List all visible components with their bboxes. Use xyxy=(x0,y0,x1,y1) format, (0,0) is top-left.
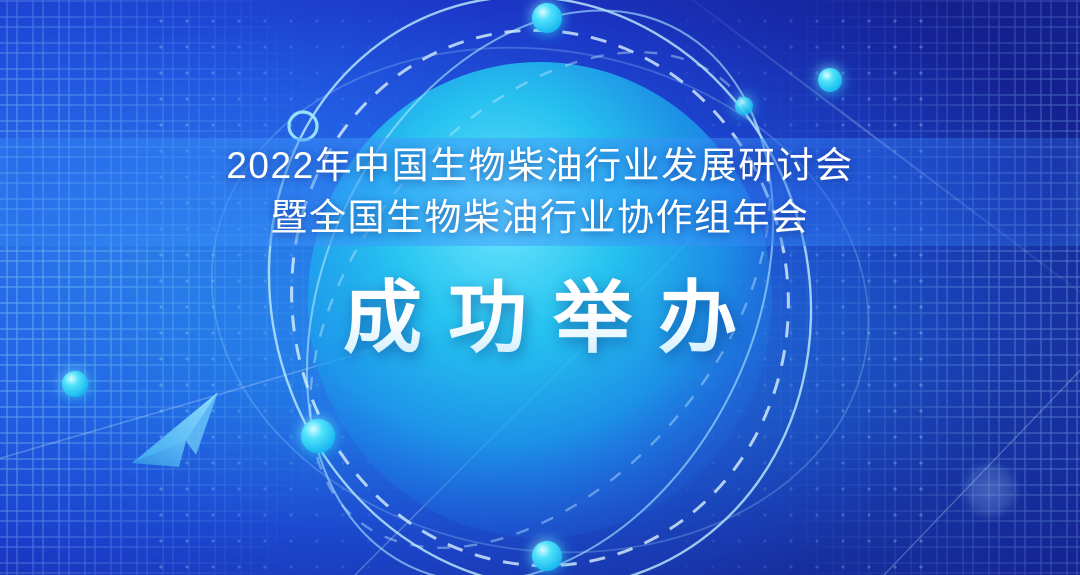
event-title: 2022年中国生物柴油行业发展研讨会 暨全国生物柴油行业协作组年会 xyxy=(0,140,1080,244)
orbit-node-right xyxy=(735,97,753,115)
orbit-node-left xyxy=(62,371,88,397)
orbit-node-upper-right xyxy=(818,68,842,92)
orbit-ring-node-left xyxy=(289,112,317,140)
event-title-line-2: 暨全国生物柴油行业协作组年会 xyxy=(0,192,1080,244)
orbit-node-lower-left xyxy=(301,419,335,453)
paper-plane-icon xyxy=(132,392,218,467)
event-title-line-1: 2022年中国生物柴油行业发展研讨会 xyxy=(0,140,1080,192)
soft-circle-bottom-right xyxy=(960,460,1020,520)
orbit-node-bottom xyxy=(532,541,562,571)
orbit-node-top xyxy=(532,3,562,33)
poster-canvas: 2022年中国生物柴油行业发展研讨会 暨全国生物柴油行业协作组年会 成功举办 xyxy=(0,0,1080,575)
headline-text: 成功举办 xyxy=(0,272,1080,368)
